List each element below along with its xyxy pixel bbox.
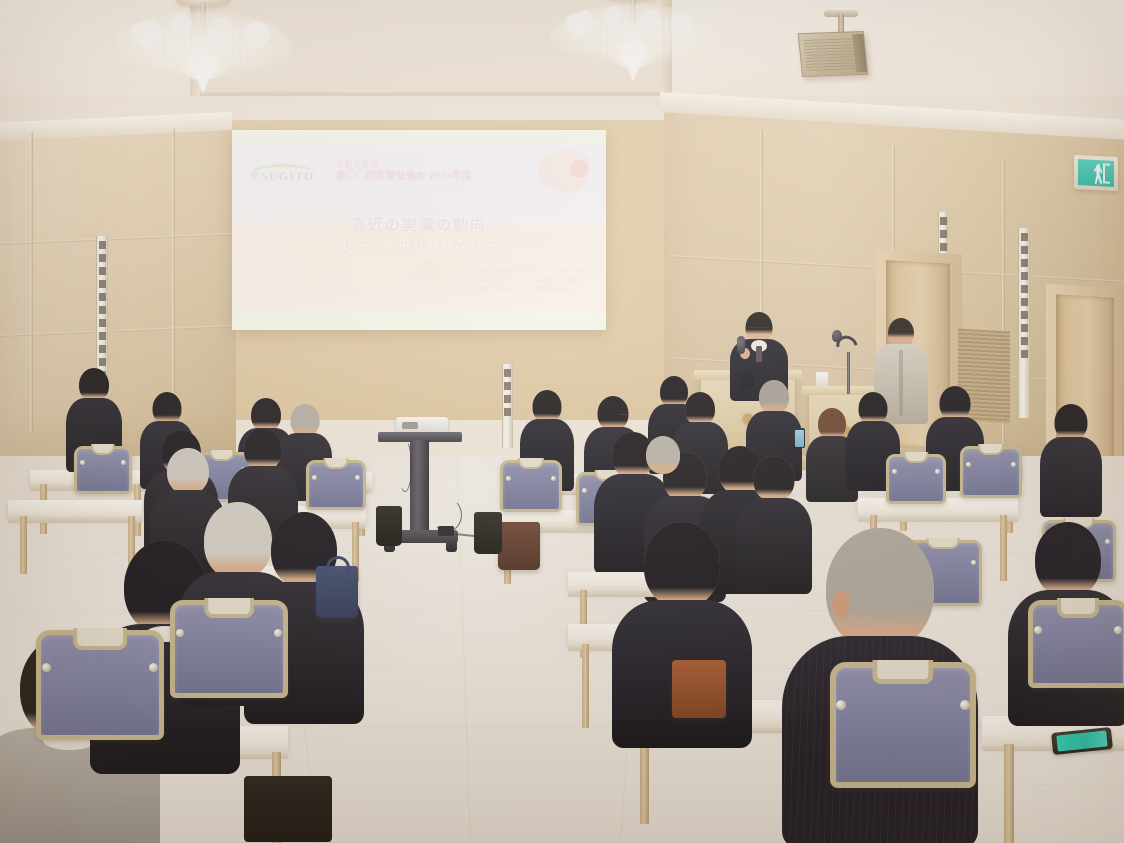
attendee-head bbox=[1055, 404, 1088, 441]
cart-caster bbox=[446, 540, 457, 552]
presenter-glasses-icon bbox=[749, 327, 770, 332]
microphone-head-icon bbox=[832, 330, 842, 342]
chair-stud bbox=[966, 462, 971, 467]
slide-subtitle: 〜レートを振り返りながら〜 bbox=[232, 235, 606, 254]
attendee-hair bbox=[754, 456, 795, 502]
smartphone-held bbox=[793, 428, 805, 448]
track-fixture bbox=[99, 332, 106, 340]
table-leg bbox=[582, 644, 589, 728]
track-fixture bbox=[940, 217, 947, 225]
track-fixture bbox=[99, 254, 106, 262]
attendee-hair-grey bbox=[826, 528, 934, 650]
track-fixture bbox=[1021, 272, 1028, 280]
track-fixture bbox=[940, 230, 947, 238]
slide-footer: SUGITO Co.,Ltd. bbox=[550, 321, 592, 327]
track-fixture bbox=[504, 382, 511, 390]
table-row5-left bbox=[8, 500, 142, 518]
attendee-hair bbox=[251, 398, 281, 432]
attendee-head bbox=[646, 436, 680, 474]
chair-empty[interactable] bbox=[74, 446, 132, 494]
table-leg bbox=[1000, 515, 1007, 581]
attendee-head bbox=[244, 428, 282, 471]
chair-back-notch bbox=[872, 660, 933, 684]
wall-track-right-a bbox=[1018, 228, 1030, 418]
bag-navy bbox=[316, 566, 358, 618]
track-fixture bbox=[1021, 298, 1028, 306]
track-fixture bbox=[1021, 350, 1028, 358]
chair-back-notch bbox=[204, 598, 254, 618]
chair-near-center[interactable] bbox=[170, 600, 288, 698]
track-fixture bbox=[99, 293, 106, 301]
attendee-head bbox=[167, 448, 209, 495]
chair-near-left[interactable] bbox=[36, 630, 164, 740]
track-fixture bbox=[1021, 233, 1028, 241]
slide-header-line2: 第◯◯回定期勉強会 2024年度 bbox=[336, 171, 486, 184]
chair-stud bbox=[506, 476, 511, 481]
bag-brown bbox=[498, 522, 540, 570]
bag-orange-near bbox=[672, 660, 726, 718]
wall-seam bbox=[30, 132, 33, 432]
power-brick bbox=[438, 526, 454, 536]
slide-notes: ・日時：2024年◯月◯日（◯）18:00〜20:00 ・会場：ホテル◯◯ 大宴… bbox=[472, 267, 592, 296]
chair-empty[interactable] bbox=[306, 460, 366, 510]
attendee-head bbox=[598, 396, 629, 431]
wall-track-center bbox=[502, 364, 513, 448]
attendee-hair-grey bbox=[167, 448, 209, 495]
track-fixture bbox=[1021, 259, 1028, 267]
exit-sign-face bbox=[1078, 159, 1114, 187]
presenter-tie bbox=[756, 346, 762, 362]
table-leg bbox=[20, 516, 27, 574]
chair-near-far-right[interactable] bbox=[1028, 600, 1124, 688]
chandelier-right bbox=[548, 0, 718, 96]
chair-stud bbox=[312, 475, 317, 480]
running-person-icon bbox=[1094, 164, 1103, 185]
track-fixture bbox=[99, 358, 106, 366]
chair-back-notch bbox=[73, 628, 127, 650]
chandelier-left bbox=[112, 0, 294, 106]
attendee-hair bbox=[685, 392, 715, 426]
chair-empty[interactable] bbox=[960, 446, 1022, 498]
chair-stud bbox=[960, 700, 970, 710]
chair-stud bbox=[355, 475, 360, 480]
slide-top-band bbox=[232, 130, 606, 144]
signal-cable bbox=[398, 440, 412, 492]
chair-stud bbox=[149, 663, 158, 672]
attendee-head bbox=[644, 522, 720, 608]
slide-header-line1: 不動産業界 bbox=[336, 160, 486, 171]
smartphone-screen bbox=[795, 430, 804, 447]
slide-note-line: ・主催：株式会社スギト 営業企画部 bbox=[472, 286, 592, 296]
slide-badge-graphic bbox=[538, 150, 596, 192]
logo-text: SUGITO bbox=[261, 169, 315, 184]
pa-speaker-icon bbox=[798, 31, 869, 77]
track-fixture bbox=[99, 345, 106, 353]
attendee-hair bbox=[644, 522, 720, 608]
track-fixture bbox=[99, 241, 106, 249]
attendee-head bbox=[685, 392, 715, 426]
attendee-head bbox=[754, 456, 795, 502]
attendee bbox=[1040, 404, 1102, 514]
attendee-hair bbox=[940, 386, 971, 421]
attendee-hair bbox=[79, 368, 109, 402]
attendee-hair bbox=[244, 428, 282, 471]
seminar-room-photo: SUGITO 不動産業界 第◯◯回定期勉強会 2024年度 直近の実業の動向 〜… bbox=[0, 0, 1124, 843]
chair-back-notch bbox=[518, 458, 544, 469]
slide-note-line: ・日時：2024年◯月◯日（◯）18:00〜20:00 bbox=[472, 267, 592, 277]
track-fixture bbox=[1021, 311, 1028, 319]
chair-near-right[interactable] bbox=[830, 662, 976, 788]
track-fixture bbox=[99, 267, 106, 275]
projector-cart-column bbox=[410, 440, 429, 536]
attendee-head bbox=[79, 368, 109, 402]
attendee-hair bbox=[1055, 404, 1088, 441]
attendee-ear bbox=[832, 590, 850, 618]
track-fixture bbox=[99, 306, 106, 314]
attendee-head bbox=[940, 386, 971, 421]
chair-stud bbox=[42, 663, 51, 672]
track-fixture bbox=[99, 280, 106, 288]
smartphone-screen bbox=[1056, 730, 1107, 751]
chair-back-notch bbox=[1057, 598, 1099, 618]
wall-seam bbox=[172, 128, 175, 428]
track-fixture bbox=[1021, 246, 1028, 254]
attendee-head bbox=[251, 398, 281, 432]
chandelier-finial bbox=[194, 72, 212, 94]
microphone-stand bbox=[847, 352, 850, 394]
chair-stud bbox=[892, 469, 897, 474]
attendee-hair bbox=[1035, 522, 1101, 598]
projected-slide: SUGITO 不動産業界 第◯◯回定期勉強会 2024年度 直近の実業の動向 〜… bbox=[232, 130, 606, 330]
bag-black-near bbox=[244, 776, 332, 842]
slide-header: 不動産業界 第◯◯回定期勉強会 2024年度 bbox=[336, 160, 486, 184]
track-fixture bbox=[99, 319, 106, 327]
sugito-logo: SUGITO bbox=[250, 164, 320, 184]
chair-back-notch bbox=[978, 444, 1004, 455]
track-fixture bbox=[1021, 337, 1028, 345]
chair-empty[interactable] bbox=[500, 460, 562, 512]
chair-stud bbox=[836, 700, 846, 710]
attendee-glasses-icon bbox=[619, 414, 628, 418]
assistant-glasses-icon bbox=[890, 334, 911, 339]
track-fixture bbox=[504, 369, 511, 377]
track-fixture bbox=[1021, 285, 1028, 293]
attendee-grey-hair bbox=[636, 436, 690, 506]
table-leg bbox=[1004, 744, 1014, 843]
exit-sign bbox=[1074, 155, 1118, 191]
handheld-microphone-icon bbox=[737, 336, 745, 354]
pa-speaker-grille bbox=[803, 37, 854, 71]
track-fixture bbox=[940, 243, 947, 251]
attendee-suit bbox=[1040, 437, 1102, 517]
track-fixture bbox=[504, 395, 511, 403]
slide-title: 直近の実業の動向 bbox=[232, 214, 606, 235]
chair-stud bbox=[551, 476, 556, 481]
bag-black bbox=[474, 512, 502, 554]
projection-screen: SUGITO 不動産業界 第◯◯回定期勉強会 2024年度 直近の実業の動向 〜… bbox=[232, 130, 606, 330]
attendee-head bbox=[826, 528, 934, 650]
attendee-hair-grey bbox=[759, 380, 789, 414]
paper-cup bbox=[816, 372, 828, 387]
chandelier-finial bbox=[624, 60, 642, 82]
exit-door-icon bbox=[1103, 163, 1110, 183]
slide-note-line: ・会場：ホテル◯◯ 大宴会場「◯◯の間」 bbox=[472, 277, 592, 287]
chair-empty[interactable] bbox=[886, 454, 946, 504]
attendee-head bbox=[1035, 522, 1101, 598]
attendee-hair-grey bbox=[646, 436, 680, 474]
track-fixture bbox=[1021, 324, 1028, 332]
chair-stud bbox=[1011, 462, 1016, 467]
bag-black-under-table bbox=[376, 506, 402, 546]
chair-stud bbox=[935, 469, 940, 474]
attendee-head bbox=[759, 380, 789, 414]
track-fixture bbox=[504, 408, 511, 416]
